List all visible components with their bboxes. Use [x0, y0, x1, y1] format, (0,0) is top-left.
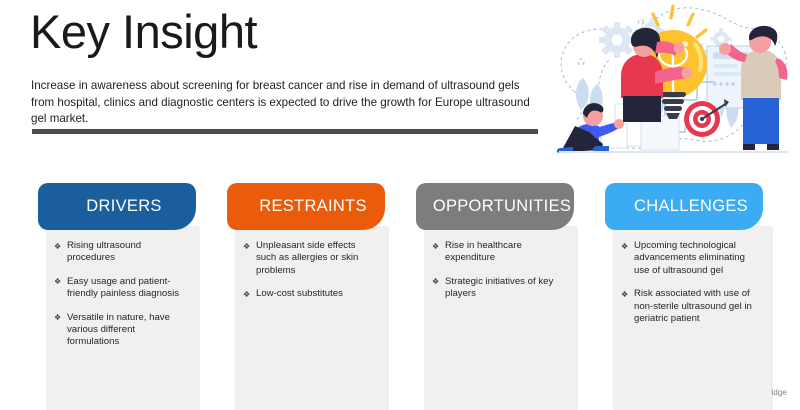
- card-body-opportunities: ❖Rise in healthcare expenditure❖Strategi…: [424, 226, 576, 410]
- diamond-bullet-icon: ❖: [432, 275, 439, 288]
- diamond-bullet-icon: ❖: [54, 240, 61, 253]
- list-item: ❖Easy usage and patient-friendly painles…: [54, 276, 188, 301]
- list-item-text: Upcoming technological advancements elim…: [634, 240, 745, 276]
- list-item: ❖Unpleasant side effects such as allergi…: [243, 240, 377, 277]
- card-header-opportunities[interactable]: OPPORTUNITIES: [416, 183, 574, 230]
- bullet-list-challenges: ❖Upcoming technological advancements eli…: [621, 240, 761, 325]
- card-body-drivers: ❖Rising ultrasound procedures❖Easy usage…: [46, 226, 198, 410]
- diamond-bullet-icon: ❖: [621, 288, 628, 301]
- header-divider: [32, 129, 538, 134]
- card-title-challenges: CHALLENGES: [620, 197, 748, 216]
- card-header-challenges[interactable]: CHALLENGES: [605, 183, 763, 230]
- diamond-bullet-icon: ❖: [621, 240, 628, 253]
- intro-paragraph: Increase in awareness about screening fo…: [31, 78, 539, 128]
- page-title: Key Insight: [30, 6, 257, 58]
- card-header-restraints[interactable]: RESTRAINTS: [227, 183, 385, 230]
- list-item: ❖Rising ultrasound procedures: [54, 240, 188, 265]
- list-item-text: Versatile in nature, have various differ…: [67, 312, 170, 348]
- card-title-drivers: DRIVERS: [72, 197, 161, 216]
- list-item: ❖Versatile in nature, have various diffe…: [54, 312, 188, 349]
- list-item-text: Easy usage and patient-friendly painless…: [67, 276, 179, 299]
- list-item: ❖Risk associated with use of non-sterile…: [621, 288, 761, 325]
- card-restraints: RESTRAINTS❖Unpleasant side effects such …: [227, 183, 387, 410]
- list-item-text: Rising ultrasound procedures: [67, 240, 141, 263]
- list-item: ❖Low-cost substitutes: [243, 288, 377, 300]
- card-title-restraints: RESTRAINTS: [245, 197, 367, 216]
- card-body-challenges: ❖Upcoming technological advancements eli…: [613, 226, 771, 410]
- bullet-list-drivers: ❖Rising ultrasound procedures❖Easy usage…: [54, 240, 188, 349]
- team-idea-lightbulb-illustration: [545, 0, 800, 165]
- bullet-list-restraints: ❖Unpleasant side effects such as allergi…: [243, 240, 377, 301]
- diamond-bullet-icon: ❖: [243, 288, 250, 301]
- list-item-text: Unpleasant side effects such as allergie…: [256, 240, 358, 276]
- list-item-text: Strategic initiatives of key players: [445, 276, 553, 299]
- card-title-opportunities: OPPORTUNITIES: [419, 197, 571, 216]
- list-item: ❖Rise in healthcare expenditure: [432, 240, 566, 265]
- diamond-bullet-icon: ❖: [432, 240, 439, 253]
- card-challenges: CHALLENGES❖Upcoming technological advanc…: [605, 183, 771, 410]
- list-item-text: Low-cost substitutes: [256, 288, 343, 299]
- bullet-list-opportunities: ❖Rise in healthcare expenditure❖Strategi…: [432, 240, 566, 301]
- list-item-text: Risk associated with use of non-sterile …: [634, 288, 752, 324]
- diamond-bullet-icon: ❖: [243, 240, 250, 253]
- card-header-drivers[interactable]: DRIVERS: [38, 183, 196, 230]
- diamond-bullet-icon: ❖: [54, 275, 61, 288]
- card-opportunities: OPPORTUNITIES❖Rise in healthcare expendi…: [416, 183, 576, 410]
- list-item: ❖Strategic initiatives of key players: [432, 276, 566, 301]
- list-item-text: Rise in healthcare expenditure: [445, 240, 522, 263]
- card-body-restraints: ❖Unpleasant side effects such as allergi…: [235, 226, 387, 410]
- diamond-bullet-icon: ❖: [54, 311, 61, 324]
- list-item: ❖Upcoming technological advancements eli…: [621, 240, 761, 277]
- card-drivers: DRIVERS❖Rising ultrasound procedures❖Eas…: [38, 183, 198, 410]
